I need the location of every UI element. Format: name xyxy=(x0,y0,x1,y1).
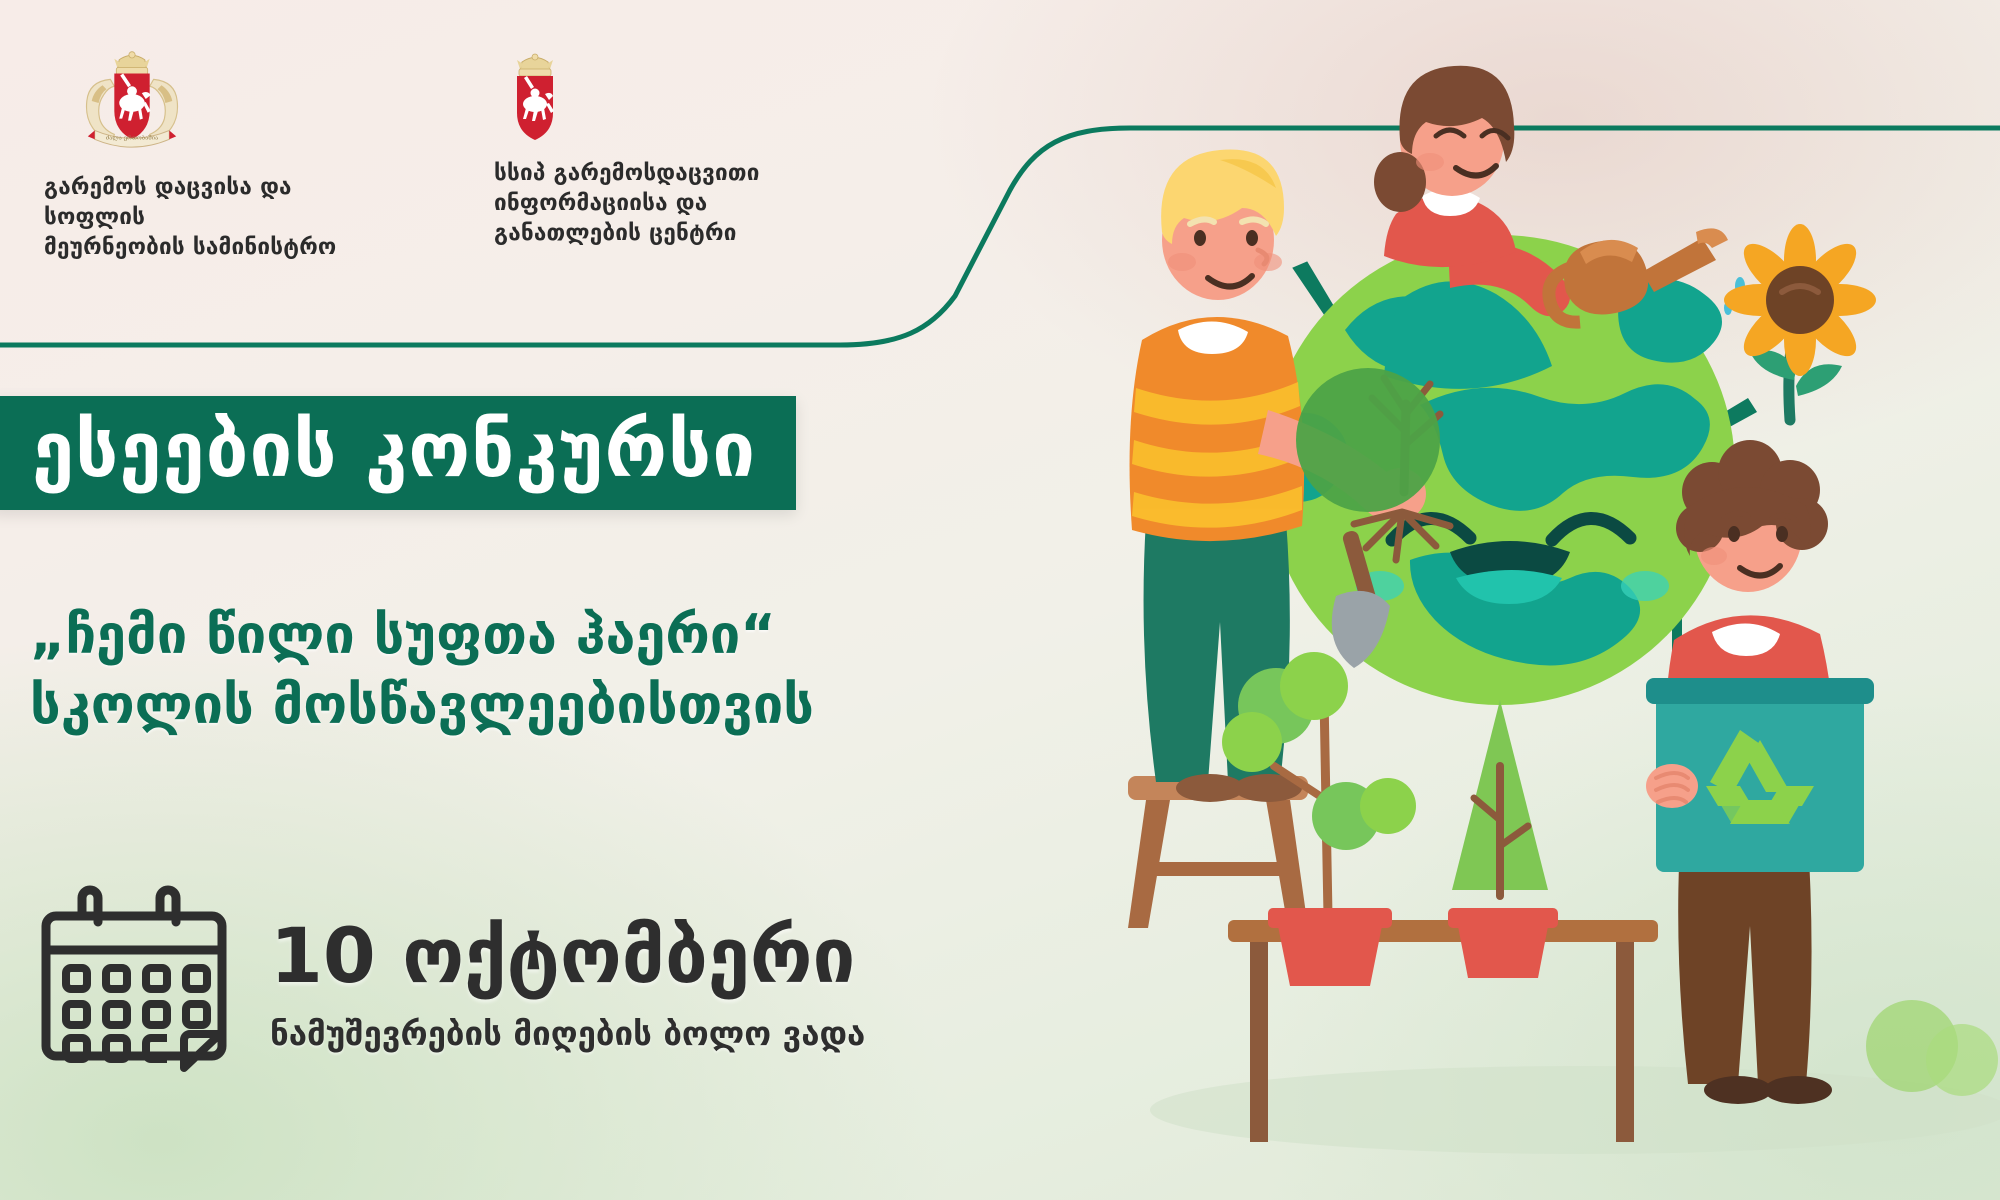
deadline-caption: ნამუშევრების მიღების ბოლო ვადა xyxy=(270,1016,865,1052)
deadline-block: 10 ოქტომბერი ნამუშევრების მიღების ბოლო ვ… xyxy=(34,880,865,1080)
background-bush xyxy=(1866,1000,1998,1096)
logo-ministry: ძალა ერთობაშია გარემოს დაცვისა და სოფლის… xyxy=(44,46,394,262)
georgia-coat-of-arms-icon: ძალა ერთობაშია xyxy=(72,46,192,156)
subtitle-line1: „ჩემი წილი სუფთა ჰაერი“ xyxy=(30,600,1210,670)
title-banner: ესეების კონკურსი xyxy=(0,396,796,510)
georgia-small-shield-icon xyxy=(500,46,570,142)
logo-center-line3: განათლების ცენტრი xyxy=(494,218,760,248)
svg-text:ძალა ერთობაშია: ძალა ერთობაშია xyxy=(106,134,158,141)
illustration-children-planting-earth xyxy=(1100,0,2000,1200)
calendar-icon xyxy=(34,880,234,1080)
logo-ministry-text: გარემოს დაცვისა და სოფლის მეურნეობის სამ… xyxy=(44,172,394,262)
logo-center-line2: ინფორმაციისა და xyxy=(494,188,760,218)
header-logos: ძალა ერთობაშია გარემოს დაცვისა და სოფლის… xyxy=(44,46,824,262)
ground-shadow xyxy=(1150,1066,2000,1154)
page-title: ესეების კონკურსი xyxy=(32,412,756,488)
deadline-date: 10 ოქტომბერი xyxy=(270,918,865,994)
logo-center: სსიპ გარემოსდაცვითი ინფორმაციისა და განა… xyxy=(494,46,824,262)
logo-center-text: სსიპ გარემოსდაცვითი ინფორმაციისა და განა… xyxy=(494,158,760,248)
logo-ministry-line1: გარემოს დაცვისა და სოფლის xyxy=(44,172,394,232)
deadline-text: 10 ოქტომბერი ნამუშევრების მიღების ბოლო ვ… xyxy=(270,908,865,1052)
boy-with-recycling-sign xyxy=(1646,440,1874,1104)
sunflower-center xyxy=(1766,266,1834,334)
sapling-canopy xyxy=(1296,368,1440,512)
logo-ministry-line2: მეურნეობის სამინისტრო xyxy=(44,232,394,262)
potted-conifer-right xyxy=(1448,700,1558,978)
poster-root: ძალა ერთობაშია გარემოს დაცვისა და სოფლის… xyxy=(0,0,2000,1200)
sunflower-plant xyxy=(1724,224,1876,420)
blush-right xyxy=(1621,571,1669,601)
subtitle-block: „ჩემი წილი სუფთა ჰაერი“ სკოლის მოსწავლეე… xyxy=(30,600,1210,740)
logo-center-line1: სსიპ გარემოსდაცვითი xyxy=(494,158,760,188)
subtitle-line2: სკოლის მოსწავლეებისთვის xyxy=(30,670,1210,740)
